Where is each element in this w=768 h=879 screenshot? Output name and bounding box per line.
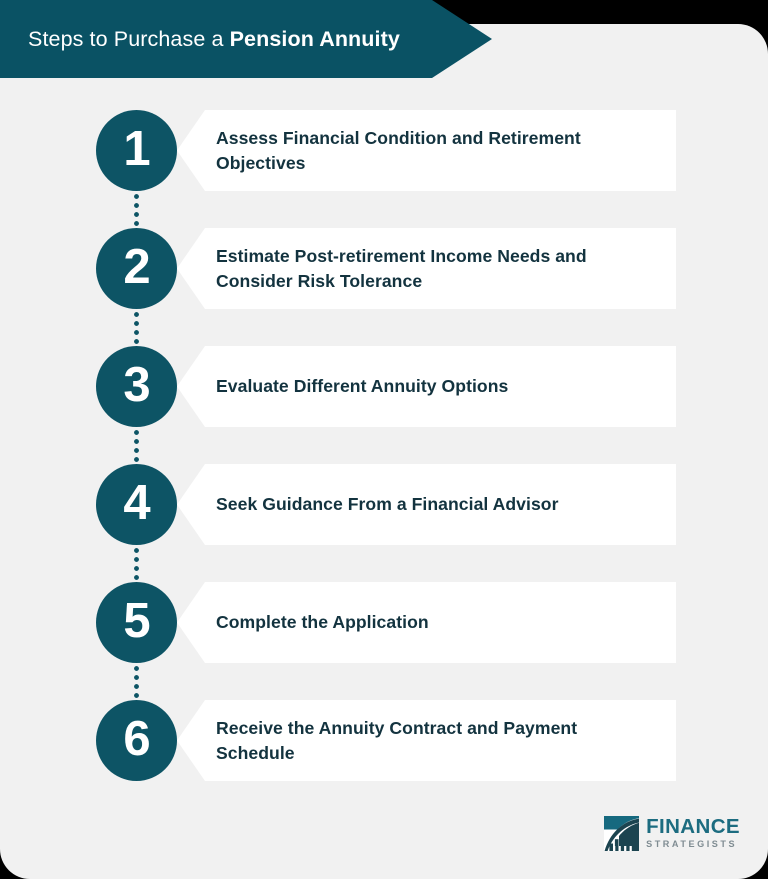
step-item: 5 Complete the Application <box>0 582 768 663</box>
step-item: 2 Estimate Post-retirement Income Needs … <box>0 228 768 309</box>
page-title-prefix: Steps to Purchase a <box>28 27 230 51</box>
step-connector-dots <box>134 545 139 582</box>
step-badge: 3 <box>96 346 177 427</box>
step-label: Receive the Annuity Contract and Payment… <box>177 716 676 766</box>
step-card: Complete the Application <box>177 582 676 663</box>
step-badge: 6 <box>96 700 177 781</box>
step-number: 2 <box>123 243 149 292</box>
step-label: Assess Financial Condition and Retiremen… <box>177 126 676 176</box>
step-item: 3 Evaluate Different Annuity Options <box>0 346 768 427</box>
step-card: Receive the Annuity Contract and Payment… <box>177 700 676 781</box>
step-badge: 4 <box>96 464 177 545</box>
step-number: 5 <box>123 597 149 646</box>
step-card: Evaluate Different Annuity Options <box>177 346 676 427</box>
step-card: Estimate Post-retirement Income Needs an… <box>177 228 676 309</box>
brand-logo: FINANCE STRATEGISTS <box>604 816 740 851</box>
step-connector-dots <box>134 309 139 346</box>
header-banner: Steps to Purchase a Pension Annuity <box>0 0 492 78</box>
logo-primary-text: FINANCE <box>646 817 740 838</box>
step-label: Complete the Application <box>177 610 449 635</box>
step-card: Assess Financial Condition and Retiremen… <box>177 110 676 191</box>
step-label: Seek Guidance From a Financial Advisor <box>177 492 578 517</box>
logo-wordmark: FINANCE STRATEGISTS <box>646 817 740 849</box>
step-connector-dots <box>134 191 139 228</box>
page-title-accent: Pension Annuity <box>230 27 400 51</box>
step-item: 1 Assess Financial Condition and Retirem… <box>0 110 768 191</box>
step-badge: 2 <box>96 228 177 309</box>
steps-list: 1 Assess Financial Condition and Retirem… <box>0 110 768 781</box>
infographic-root: Steps to Purchase a Pension Annuity 1 As… <box>0 0 768 879</box>
step-badge: 5 <box>96 582 177 663</box>
step-number: 1 <box>123 125 149 174</box>
step-item: 4 Seek Guidance From a Financial Advisor <box>0 464 768 545</box>
step-connector-dots <box>134 427 139 464</box>
logo-secondary-text: STRATEGISTS <box>646 840 740 849</box>
step-label: Evaluate Different Annuity Options <box>177 374 528 399</box>
page-title: Steps to Purchase a Pension Annuity <box>0 27 400 52</box>
step-badge: 1 <box>96 110 177 191</box>
step-label: Estimate Post-retirement Income Needs an… <box>177 244 676 294</box>
step-item: 6 Receive the Annuity Contract and Payme… <box>0 700 768 781</box>
step-number: 6 <box>123 715 149 764</box>
step-number: 3 <box>123 361 149 410</box>
step-connector-dots <box>134 663 139 700</box>
step-card: Seek Guidance From a Financial Advisor <box>177 464 676 545</box>
bar-chart-swoosh-icon <box>604 816 639 851</box>
step-number: 4 <box>123 479 149 528</box>
